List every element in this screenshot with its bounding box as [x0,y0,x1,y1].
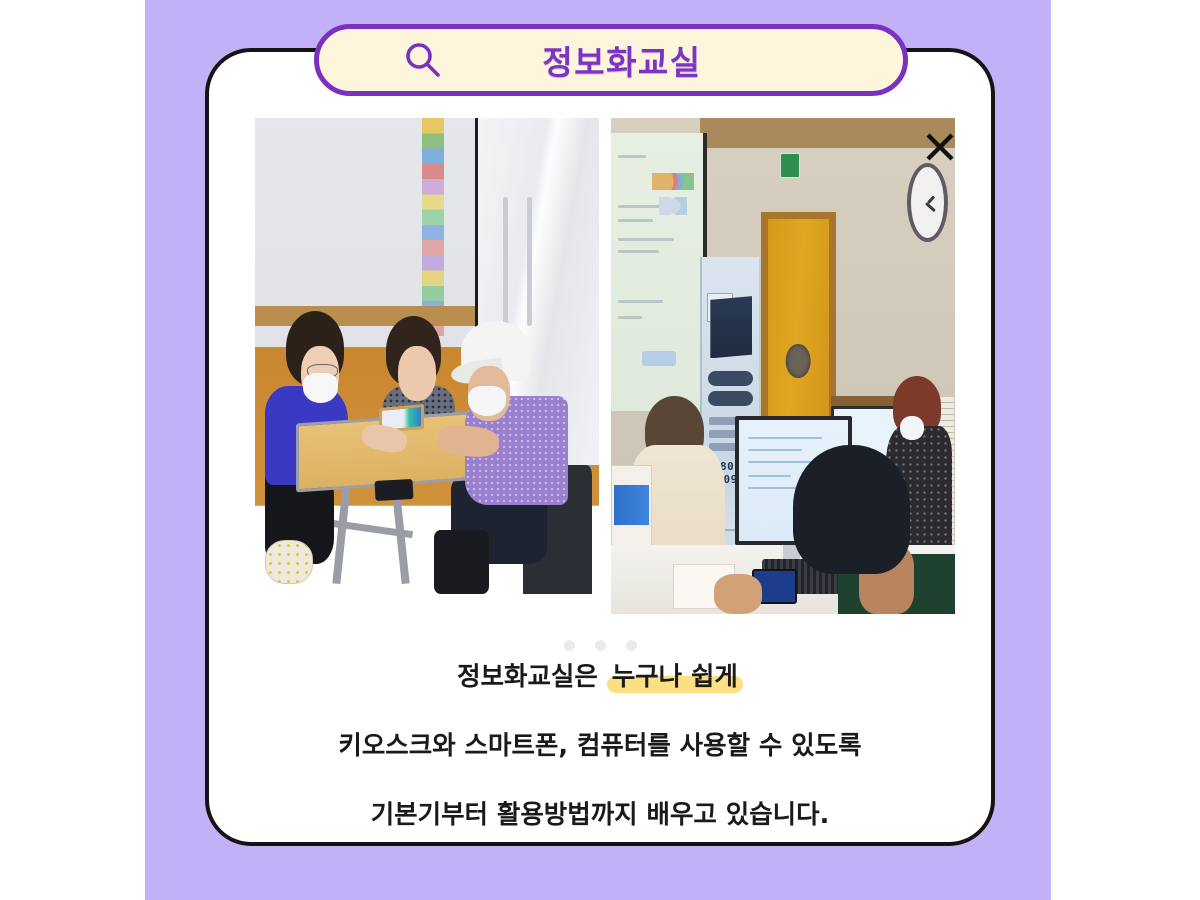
wall-clock [907,163,948,242]
banner-subline [708,371,753,386]
photo-gallery: 1800-0096 [255,118,955,614]
carousel-dots [209,640,991,651]
backpack [434,530,489,594]
ceiling-trim [700,118,955,148]
face-mask [468,386,506,416]
wall-rail [255,306,475,326]
cabinet-handle [527,197,532,326]
person-face [398,346,436,401]
face-mask [303,373,337,403]
page-title: 정보화교실 [319,36,903,84]
search-bar[interactable]: 정보화교실 [314,24,908,96]
caption-line-1: 정보화교실은 누구나 쉽게 [249,664,951,691]
caption-highlight: 누구나 쉽게 [607,664,743,691]
caption-line-1-plain: 정보화교실은 [457,662,607,692]
wall-chart [422,118,444,336]
cabinet-handle [503,197,508,326]
person-shoe [265,540,313,585]
banner-headline [710,296,752,358]
page-canvas: 1800-0096 [0,0,1200,900]
banner-subline [708,391,753,406]
person-hand [714,574,762,614]
content-card: 1800-0096 [205,48,995,846]
gallery-photo-1[interactable] [255,118,599,614]
screen-icon-row [652,173,693,190]
screen-button [642,351,676,366]
black-cap [793,445,910,574]
table-leg [332,475,351,584]
caption-line-3: 기본기부터 활용방법까지 배우고 있습니다. [249,802,951,829]
carousel-dot-3[interactable] [626,640,637,651]
exit-sign-icon [780,153,801,178]
caption-line-2: 키오스크와 스마트폰, 컴퓨터를 사용할 수 있도록 [249,733,951,760]
carousel-dot-1[interactable] [564,640,575,651]
caption-block: 정보화교실은 누구나 쉽게 키오스크와 스마트폰, 컴퓨터를 사용할 수 있도록… [249,664,951,828]
close-icon[interactable] [923,130,957,164]
smartphone [375,479,414,501]
gallery-photo-2[interactable]: 1800-0096 [611,118,955,614]
carousel-dot-2[interactable] [595,640,606,651]
door-window [786,344,811,378]
screen-icon-row [659,197,687,214]
desk-sign-title [614,485,648,525]
face-mask [900,416,924,441]
